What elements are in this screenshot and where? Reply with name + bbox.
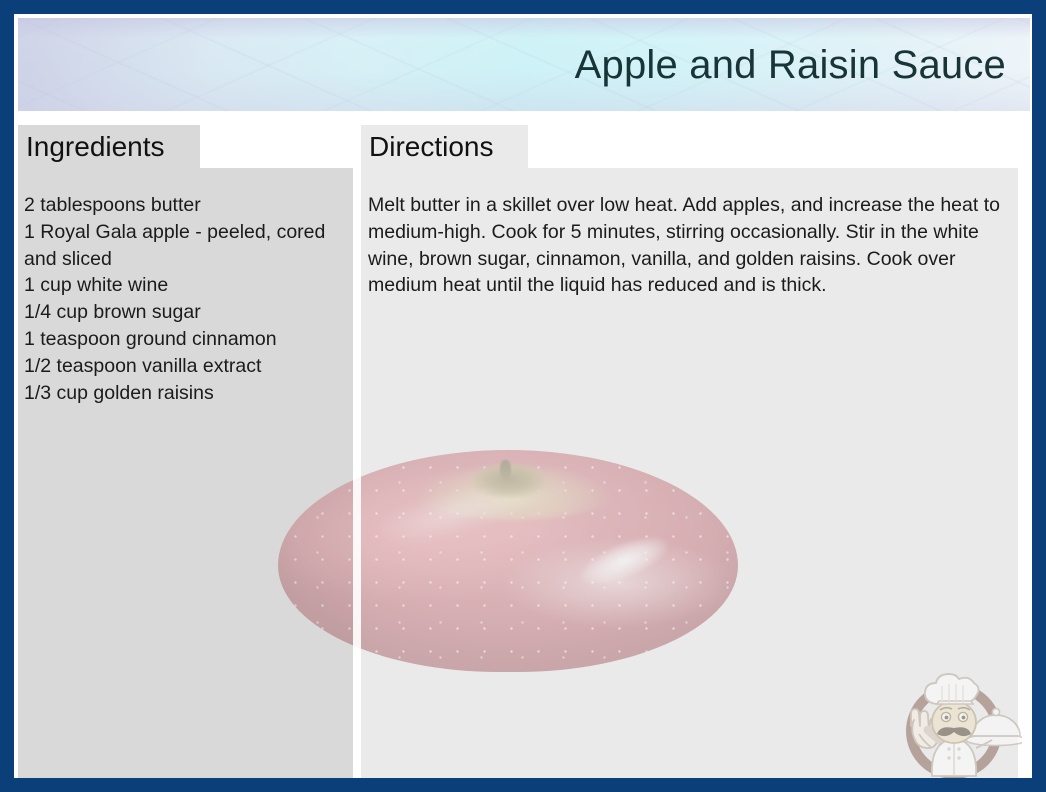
list-item: 1/4 cup brown sugar — [24, 299, 344, 326]
page-title: Apple and Raisin Sauce — [575, 44, 1006, 86]
title-banner: Apple and Raisin Sauce — [18, 18, 1030, 111]
directions-heading-label: Directions — [369, 133, 493, 161]
column-gutter — [353, 168, 361, 783]
ingredients-heading-label: Ingredients — [26, 133, 165, 161]
list-item: 1 Royal Gala apple - peeled, cored and s… — [24, 219, 344, 273]
list-item: 1/2 teaspoon vanilla extract — [24, 353, 344, 380]
list-item: 2 tablespoons butter — [24, 192, 344, 219]
recipe-slide: Apple and Raisin Sauce Ingredients Direc… — [0, 0, 1046, 792]
directions-body-text: Melt butter in a skillet over low heat. … — [368, 192, 1008, 299]
directions-heading-tab: Directions — [361, 125, 528, 168]
list-item: 1 teaspoon ground cinnamon — [24, 326, 344, 353]
list-item: 1/3 cup golden raisins — [24, 380, 344, 407]
list-item: 1 cup white wine — [24, 272, 344, 299]
ingredients-list: 2 tablespoons butter 1 Royal Gala apple … — [24, 192, 344, 406]
ingredients-heading-tab: Ingredients — [18, 125, 200, 168]
